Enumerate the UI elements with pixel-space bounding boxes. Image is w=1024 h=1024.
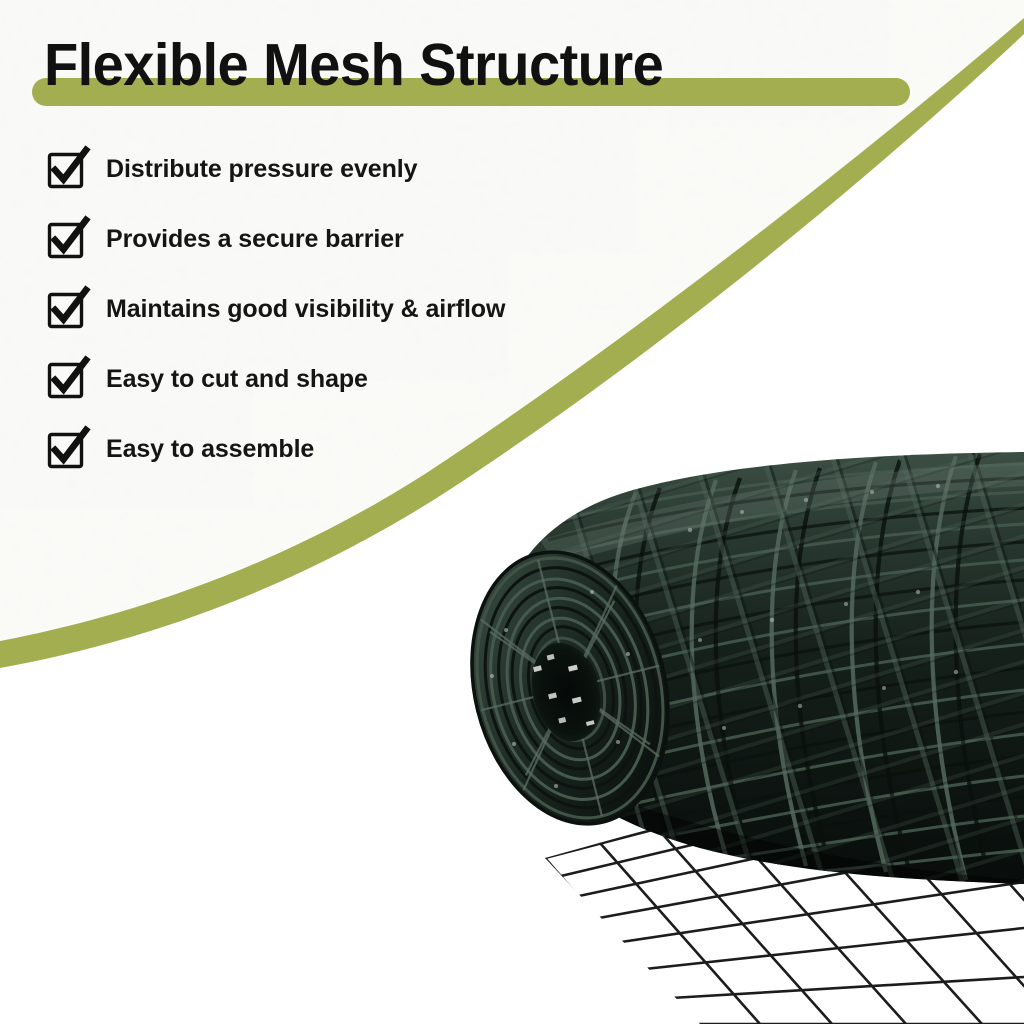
mesh-roll-body [444, 440, 1024, 900]
product-image-mesh-roll [0, 0, 1024, 1024]
product-feature-banner: Flexible Mesh Structure Distribute press… [0, 0, 1024, 1024]
